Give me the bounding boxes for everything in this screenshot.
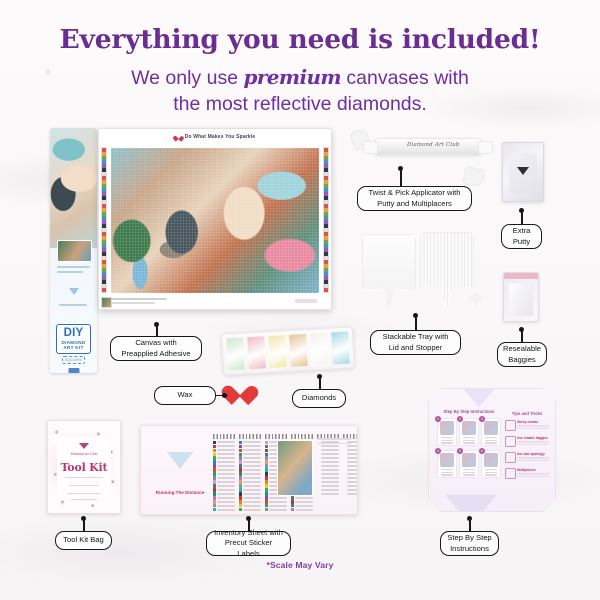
label-code [243, 449, 261, 451]
label-code [321, 469, 339, 471]
sticker-label-row [239, 468, 261, 471]
sticker-label-row [213, 448, 235, 451]
label-putty-line1: Extra [513, 226, 531, 235]
kit-box-mini-thumbnail [67, 367, 80, 373]
baggie-film [509, 283, 533, 316]
step-number: 6 [479, 448, 485, 454]
sticker-label-row [213, 444, 235, 447]
step-text-line [463, 437, 475, 438]
multiplacer-nib-icon [462, 166, 485, 188]
inventory-side-fields [317, 438, 351, 447]
label-code [347, 473, 358, 475]
diy-text: DIY [57, 327, 90, 339]
color-swatch [265, 449, 268, 452]
label-code [243, 441, 261, 443]
inventory-sheet: Running The Distance [140, 425, 358, 515]
baggie-zip-strip [504, 273, 538, 279]
label-code [243, 453, 261, 455]
sticker-label-row [317, 492, 339, 495]
color-swatch [239, 464, 242, 467]
sticker-label-row [265, 496, 287, 499]
label-code [217, 477, 235, 479]
instruction-step: 5 [459, 450, 479, 480]
toolkit-brand: Diamond Art Club [57, 452, 111, 456]
sticker-label-row [239, 492, 261, 495]
sticker-label-row [343, 472, 358, 475]
color-swatch [213, 464, 216, 467]
tray-stopper [468, 292, 483, 306]
wax-heart [228, 378, 252, 400]
label-canvas-line1: Canvas with [135, 338, 176, 347]
instructions-sheet: Step By Step Instructions 123456 Tips an… [428, 388, 556, 512]
color-swatch [239, 508, 242, 511]
color-swatch [265, 464, 268, 467]
tip-text-line [517, 457, 549, 458]
color-swatch [213, 492, 216, 495]
step-card [481, 418, 501, 446]
step-card [481, 450, 501, 478]
page-subtitle: We only use premium canvases with the mo… [0, 64, 600, 117]
color-swatch [343, 488, 346, 491]
color-swatch [265, 476, 268, 479]
color-swatch [239, 476, 242, 479]
label-code [243, 465, 261, 467]
label-code [347, 469, 358, 471]
label-code [217, 493, 235, 495]
inventory-artwork-thumbnail [277, 440, 313, 496]
color-key-strip-left [101, 147, 107, 293]
color-swatch [265, 445, 268, 448]
label-code [217, 457, 235, 459]
color-swatch [343, 453, 346, 456]
color-swatch [213, 453, 216, 456]
label-code [295, 509, 313, 511]
label-code [269, 497, 287, 499]
color-swatch [265, 456, 268, 459]
label-code [243, 501, 261, 503]
instructions-heading: Step By Step Instructions [437, 409, 501, 414]
sticker-label-row [317, 484, 339, 487]
sticker-label-row [239, 488, 261, 491]
label-code [243, 493, 261, 495]
sticker-label-row [239, 452, 261, 455]
step-text-line [463, 440, 475, 441]
applicator-tip [478, 141, 493, 154]
leader-line [521, 210, 523, 224]
sticker-label-row [317, 460, 339, 463]
label-code [217, 461, 235, 463]
color-swatch [343, 456, 346, 459]
label-code [321, 461, 339, 463]
label-code [243, 477, 261, 479]
step-text-line [441, 469, 453, 470]
tip-item: Use wax sparingly [505, 451, 549, 465]
sticker-label-row [343, 488, 358, 491]
label-code [217, 497, 235, 499]
label-toolkit-text: Tool Kit Bag [63, 535, 104, 545]
sticker-label-row [317, 464, 339, 467]
label-code [347, 449, 358, 451]
diy-kit-box: DIY DIAMOND ART KIT SQUARE [50, 128, 97, 373]
color-swatch [213, 476, 216, 479]
color-swatch [317, 476, 320, 479]
color-swatch [239, 500, 242, 503]
color-swatch [265, 441, 268, 444]
color-swatch [265, 460, 268, 463]
sticker-label-row [239, 448, 261, 451]
step-text-line [463, 469, 475, 470]
sticker-label-row [343, 452, 358, 455]
color-swatch [265, 500, 268, 503]
sticker-label-row [239, 476, 261, 479]
label-instructions-line2: Instructions [450, 544, 489, 553]
sticker-label-row [317, 468, 339, 471]
color-swatch [239, 484, 242, 487]
sticker-label-row [239, 508, 261, 511]
tip-text-line [517, 473, 549, 474]
label-diamonds-text: Diamonds [302, 393, 336, 403]
sticker-label-row [213, 464, 235, 467]
label-applicator-line1: Twist & Pick Applicator with [369, 188, 461, 197]
color-swatch [317, 484, 320, 487]
color-swatch [239, 468, 242, 471]
color-swatch [291, 496, 294, 499]
heart-icon [175, 134, 182, 140]
diamond-outline-icon [445, 495, 497, 512]
label-code [321, 465, 339, 467]
toolkit-line [69, 485, 99, 486]
label-code [295, 505, 313, 507]
color-swatch [213, 508, 216, 511]
color-swatch [317, 460, 320, 463]
subtitle-emphasis: premium [243, 65, 341, 89]
label-code [321, 473, 339, 475]
kit-box-thumbnail [57, 240, 92, 262]
label-code [321, 493, 339, 495]
diamond-outline-icon [453, 388, 505, 407]
color-swatch [265, 504, 268, 507]
step-text-line [485, 472, 497, 473]
instruction-step: 3 [481, 418, 501, 448]
label-code [217, 441, 235, 443]
sticker-label-row [213, 504, 235, 507]
twist-pick-applicator: Diamond Art Club [372, 138, 484, 155]
stackable-tray-lid [362, 234, 416, 310]
column-header [239, 434, 261, 439]
color-swatch [265, 453, 268, 456]
label-code [243, 445, 261, 447]
label-applicator: Twist & Pick Applicator withPutty and Mu… [357, 186, 472, 211]
sticker-label-row [213, 441, 235, 444]
sticker-label-row [213, 476, 235, 479]
label-code [243, 497, 261, 499]
step-text-line [463, 472, 475, 473]
tip-title: Sticky canvas [517, 420, 549, 424]
sticker-label-row [239, 480, 261, 483]
color-swatch [239, 472, 242, 475]
color-swatch [213, 456, 216, 459]
label-code [243, 489, 261, 491]
color-swatch [265, 492, 268, 495]
sticker-label-row [213, 480, 235, 483]
sticker-label-row [343, 460, 358, 463]
tip-text-line [517, 460, 549, 461]
color-swatch [265, 508, 268, 511]
diamond-bag [288, 333, 309, 368]
label-code [269, 501, 287, 503]
label-canvas: Canvas withPreapplied Adhesive [110, 336, 202, 361]
tip-icon [505, 468, 516, 479]
step-photo [440, 453, 454, 467]
color-swatch [343, 460, 346, 463]
leader-line [83, 518, 85, 531]
sticker-label-row [213, 468, 235, 471]
subtitle-pre: We only use [131, 67, 243, 89]
step-number: 3 [479, 416, 485, 422]
color-swatch [265, 484, 268, 487]
label-code [243, 481, 261, 483]
toolkit-line [65, 477, 104, 478]
diamond-bag [309, 332, 330, 367]
sticker-label-row [265, 508, 287, 511]
color-swatch [291, 504, 294, 507]
color-swatch [239, 492, 242, 495]
label-putty-line2: Putty [513, 237, 530, 246]
sticker-label-row [213, 500, 235, 503]
label-stackable-tray: Stackable Tray withLid and Stopper [370, 330, 461, 355]
color-swatch [317, 449, 320, 452]
instruction-step: 2 [459, 418, 479, 448]
sticker-label-row [213, 456, 235, 459]
sticker-label-row [213, 496, 235, 499]
label-code [347, 493, 358, 495]
color-swatch [239, 488, 242, 491]
label-code [269, 509, 287, 511]
color-swatch [343, 468, 346, 471]
applicator-tip [363, 141, 378, 154]
color-swatch [317, 488, 320, 491]
label-code [347, 485, 358, 487]
tip-icon [505, 452, 516, 463]
color-swatch [213, 441, 216, 444]
label-code [243, 505, 261, 507]
step-photo [440, 421, 454, 435]
sticker-label-column [213, 434, 235, 512]
color-swatch [343, 476, 346, 479]
color-swatch [343, 464, 346, 467]
diamond-painting-canvas: Do What Makes You Sparkle [98, 128, 332, 310]
sticker-label-row [239, 484, 261, 487]
column-header [265, 434, 287, 439]
color-swatch [265, 496, 268, 499]
label-code [243, 457, 261, 459]
toolkit-line [67, 493, 102, 494]
label-code [243, 461, 261, 463]
label-tray-line2: Lid and Stopper [389, 343, 443, 352]
tool-kit-bag: Diamond Art Club Tool Kit [47, 420, 121, 514]
step-card [459, 418, 479, 446]
leader-line [469, 518, 471, 531]
tip-title: Use wax sparingly [517, 452, 549, 456]
canvas-footer-line [111, 298, 167, 300]
diamond-bag [330, 331, 351, 366]
sticker-label-row [213, 472, 235, 475]
kit-box-text-line [57, 266, 90, 268]
label-baggies-line2: Baggies [508, 355, 535, 364]
label-instructions: Step By StepInstructions [440, 531, 499, 556]
header-block: Everything you need is included! We only… [0, 24, 600, 117]
label-code [217, 473, 235, 475]
sticker-label-row [343, 448, 358, 451]
sticker-label-row [239, 456, 261, 459]
subtitle-post: canvases with [341, 67, 469, 89]
applicator-brand-text: Diamond Art Club [407, 142, 460, 148]
step-text-line [441, 442, 453, 443]
diamond-bags-strip [221, 326, 355, 375]
sticker-label-row [291, 508, 313, 511]
sticker-label-row [343, 464, 358, 467]
diamond-icon [167, 452, 193, 469]
kit-box-artwork [50, 128, 97, 248]
diamond-icon [69, 288, 79, 295]
step-card [437, 450, 457, 478]
diamond-bag [225, 336, 246, 371]
step-card [437, 418, 457, 446]
label-code [217, 445, 235, 447]
label-code [243, 509, 261, 511]
diamond-bag [246, 335, 267, 370]
canvas-banner: Do What Makes You Sparkle [99, 129, 331, 145]
color-key-strip-right [323, 147, 329, 293]
sticker-label-column [239, 434, 261, 512]
sticker-label-row [265, 500, 287, 503]
color-swatch [213, 445, 216, 448]
color-swatch [213, 500, 216, 503]
label-code [321, 449, 339, 451]
label-code [347, 489, 358, 491]
sticker-label-row [317, 452, 339, 455]
label-code [321, 489, 339, 491]
step-photo [462, 453, 476, 467]
color-swatch [239, 441, 242, 444]
color-swatch [239, 460, 242, 463]
tip-icon [505, 420, 516, 431]
sticker-label-row [343, 456, 358, 459]
sticker-label-row [239, 464, 261, 467]
label-code [217, 469, 235, 471]
color-swatch [343, 484, 346, 487]
canvas-footer [99, 294, 331, 309]
sticker-label-row [239, 460, 261, 463]
color-swatch [239, 496, 242, 499]
sticker-label-row [317, 480, 339, 483]
sticker-label-row [213, 508, 235, 511]
leader-line [521, 329, 523, 342]
color-swatch [317, 472, 320, 475]
leader-line [156, 324, 158, 336]
label-code [321, 457, 339, 459]
toolkit-panel: Diamond Art Club Tool Kit [57, 437, 111, 499]
canvas-artwork [111, 148, 319, 293]
tip-icon [505, 436, 516, 447]
instruction-step: 4 [437, 450, 457, 480]
label-inventory-line2: Precut Sticker Labels [225, 538, 272, 557]
color-swatch [213, 472, 216, 475]
kit-box-brand-line [59, 304, 87, 306]
step-number: 5 [457, 448, 463, 454]
label-code [269, 505, 287, 507]
diamond-icon [79, 443, 89, 449]
sticker-label-row [239, 496, 261, 499]
instruction-step: 6 [481, 450, 501, 480]
label-code [321, 481, 339, 483]
label-tray-line1: Stackable Tray with [383, 332, 449, 341]
label-code [295, 501, 313, 503]
inventory-artwork-title: Running The Distance [151, 490, 209, 495]
color-swatch [317, 456, 320, 459]
page-title: Everything you need is included! [0, 24, 600, 55]
label-code [347, 453, 358, 455]
label-code [243, 469, 261, 471]
label-code [321, 477, 339, 479]
sticker-label-row [343, 484, 358, 487]
sticker-label-row [317, 488, 339, 491]
label-code [295, 497, 313, 499]
step-text-line [485, 440, 497, 441]
sticker-label-row [239, 444, 261, 447]
color-swatch [317, 480, 320, 483]
label-code [217, 501, 235, 503]
stackable-tray [420, 232, 474, 308]
label-code [217, 509, 235, 511]
step-number: 2 [457, 416, 463, 422]
drill-type-badge: SQUARE [62, 356, 85, 364]
color-swatch [239, 480, 242, 483]
sticker-label-row [343, 468, 358, 471]
step-card [459, 450, 479, 478]
sticker-label-row [239, 504, 261, 507]
label-canvas-line2: Preapplied Adhesive [121, 349, 190, 358]
sticker-label-row [239, 472, 261, 475]
label-extra-putty: ExtraPutty [501, 224, 542, 249]
sticker-label-row [239, 500, 261, 503]
step-text-line [441, 440, 453, 441]
resealable-baggie [503, 272, 539, 322]
label-code [217, 481, 235, 483]
color-swatch [343, 492, 346, 495]
color-swatch [239, 453, 242, 456]
tip-text-line [517, 441, 549, 442]
label-baggies-line1: Resealable [503, 344, 541, 353]
color-swatch [265, 472, 268, 475]
tip-title: Multiplacers [517, 468, 549, 472]
label-code [321, 485, 339, 487]
color-swatch [265, 468, 268, 471]
subtitle-line2: the most reflective diamonds. [173, 93, 427, 115]
color-swatch [291, 508, 294, 511]
diy-line2: ART KIT [57, 345, 90, 350]
color-swatch [317, 464, 320, 467]
step-text-line [485, 469, 497, 470]
sticker-label-row [213, 460, 235, 463]
column-header [213, 434, 235, 439]
label-inventory-line1: Inventory Sheet with [214, 528, 283, 537]
step-text-line [485, 442, 497, 443]
step-text-line [485, 437, 497, 438]
label-code [347, 461, 358, 463]
instruction-steps-grid: 123456 [437, 418, 501, 480]
label-code [243, 485, 261, 487]
